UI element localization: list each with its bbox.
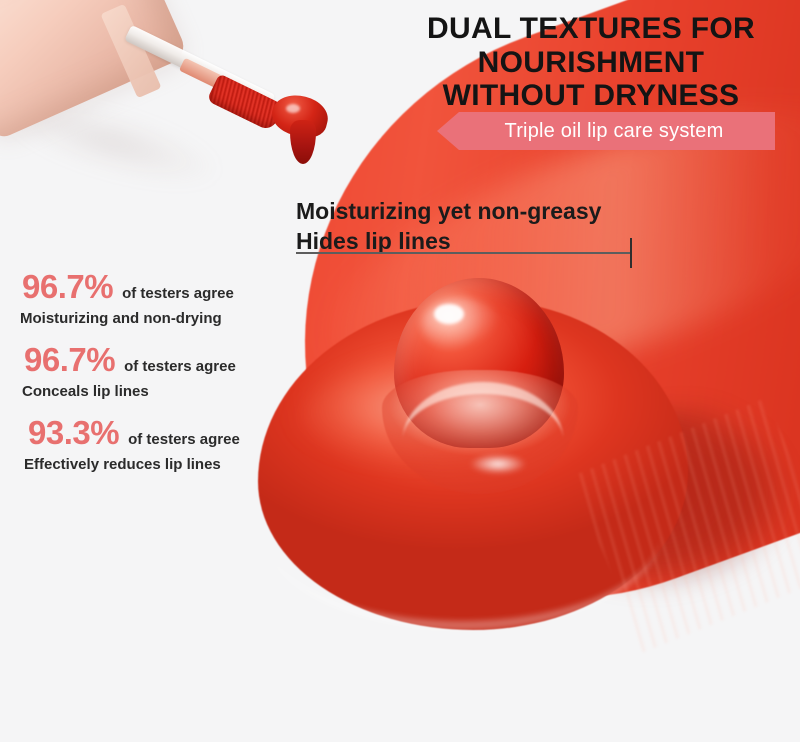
subheading: Moisturizing yet non-greasy Hides lip li… xyxy=(296,196,601,257)
statistic-item: 96.7% of testers agree Conceals lip line… xyxy=(0,341,300,400)
ad-banner: DUAL TEXTURES FOR NOURISHMENT WITHOUT DR… xyxy=(0,0,800,742)
subheading-line-1: Moisturizing yet non-greasy xyxy=(296,196,601,226)
headline-line-2: NOURISHMENT xyxy=(400,46,782,80)
statistic-headline: 93.3% of testers agree xyxy=(0,414,300,452)
tagline-ribbon: Triple oil lip care system xyxy=(437,112,775,150)
statistic-item: 96.7% of testers agree Moisturizing and … xyxy=(0,268,300,327)
statistic-caption: Conceals lip lines xyxy=(0,383,300,400)
statistic-caption: Effectively reduces lip lines xyxy=(0,456,300,473)
copy-layer: DUAL TEXTURES FOR NOURISHMENT WITHOUT DR… xyxy=(0,0,800,742)
statistic-item: 93.3% of testers agree Effectively reduc… xyxy=(0,414,300,473)
statistic-percent: 96.7% xyxy=(22,268,113,306)
statistic-agree-label: of testers agree xyxy=(124,358,236,375)
headline-line-1: DUAL TEXTURES FOR xyxy=(400,12,782,46)
statistic-caption: Moisturizing and non-drying xyxy=(0,310,300,327)
divider-end-tick xyxy=(630,238,632,268)
statistic-headline: 96.7% of testers agree xyxy=(0,341,300,379)
statistic-agree-label: of testers agree xyxy=(128,431,240,448)
statistic-percent: 93.3% xyxy=(28,414,119,452)
headline: DUAL TEXTURES FOR NOURISHMENT WITHOUT DR… xyxy=(400,12,782,113)
divider-rule xyxy=(296,252,630,254)
statistic-headline: 96.7% of testers agree xyxy=(0,268,300,306)
tagline-label: Triple oil lip care system xyxy=(489,120,724,143)
statistics-list: 96.7% of testers agree Moisturizing and … xyxy=(0,268,300,487)
statistic-agree-label: of testers agree xyxy=(122,285,234,302)
headline-line-3: WITHOUT DRYNESS xyxy=(400,79,782,113)
statistic-percent: 96.7% xyxy=(24,341,115,379)
